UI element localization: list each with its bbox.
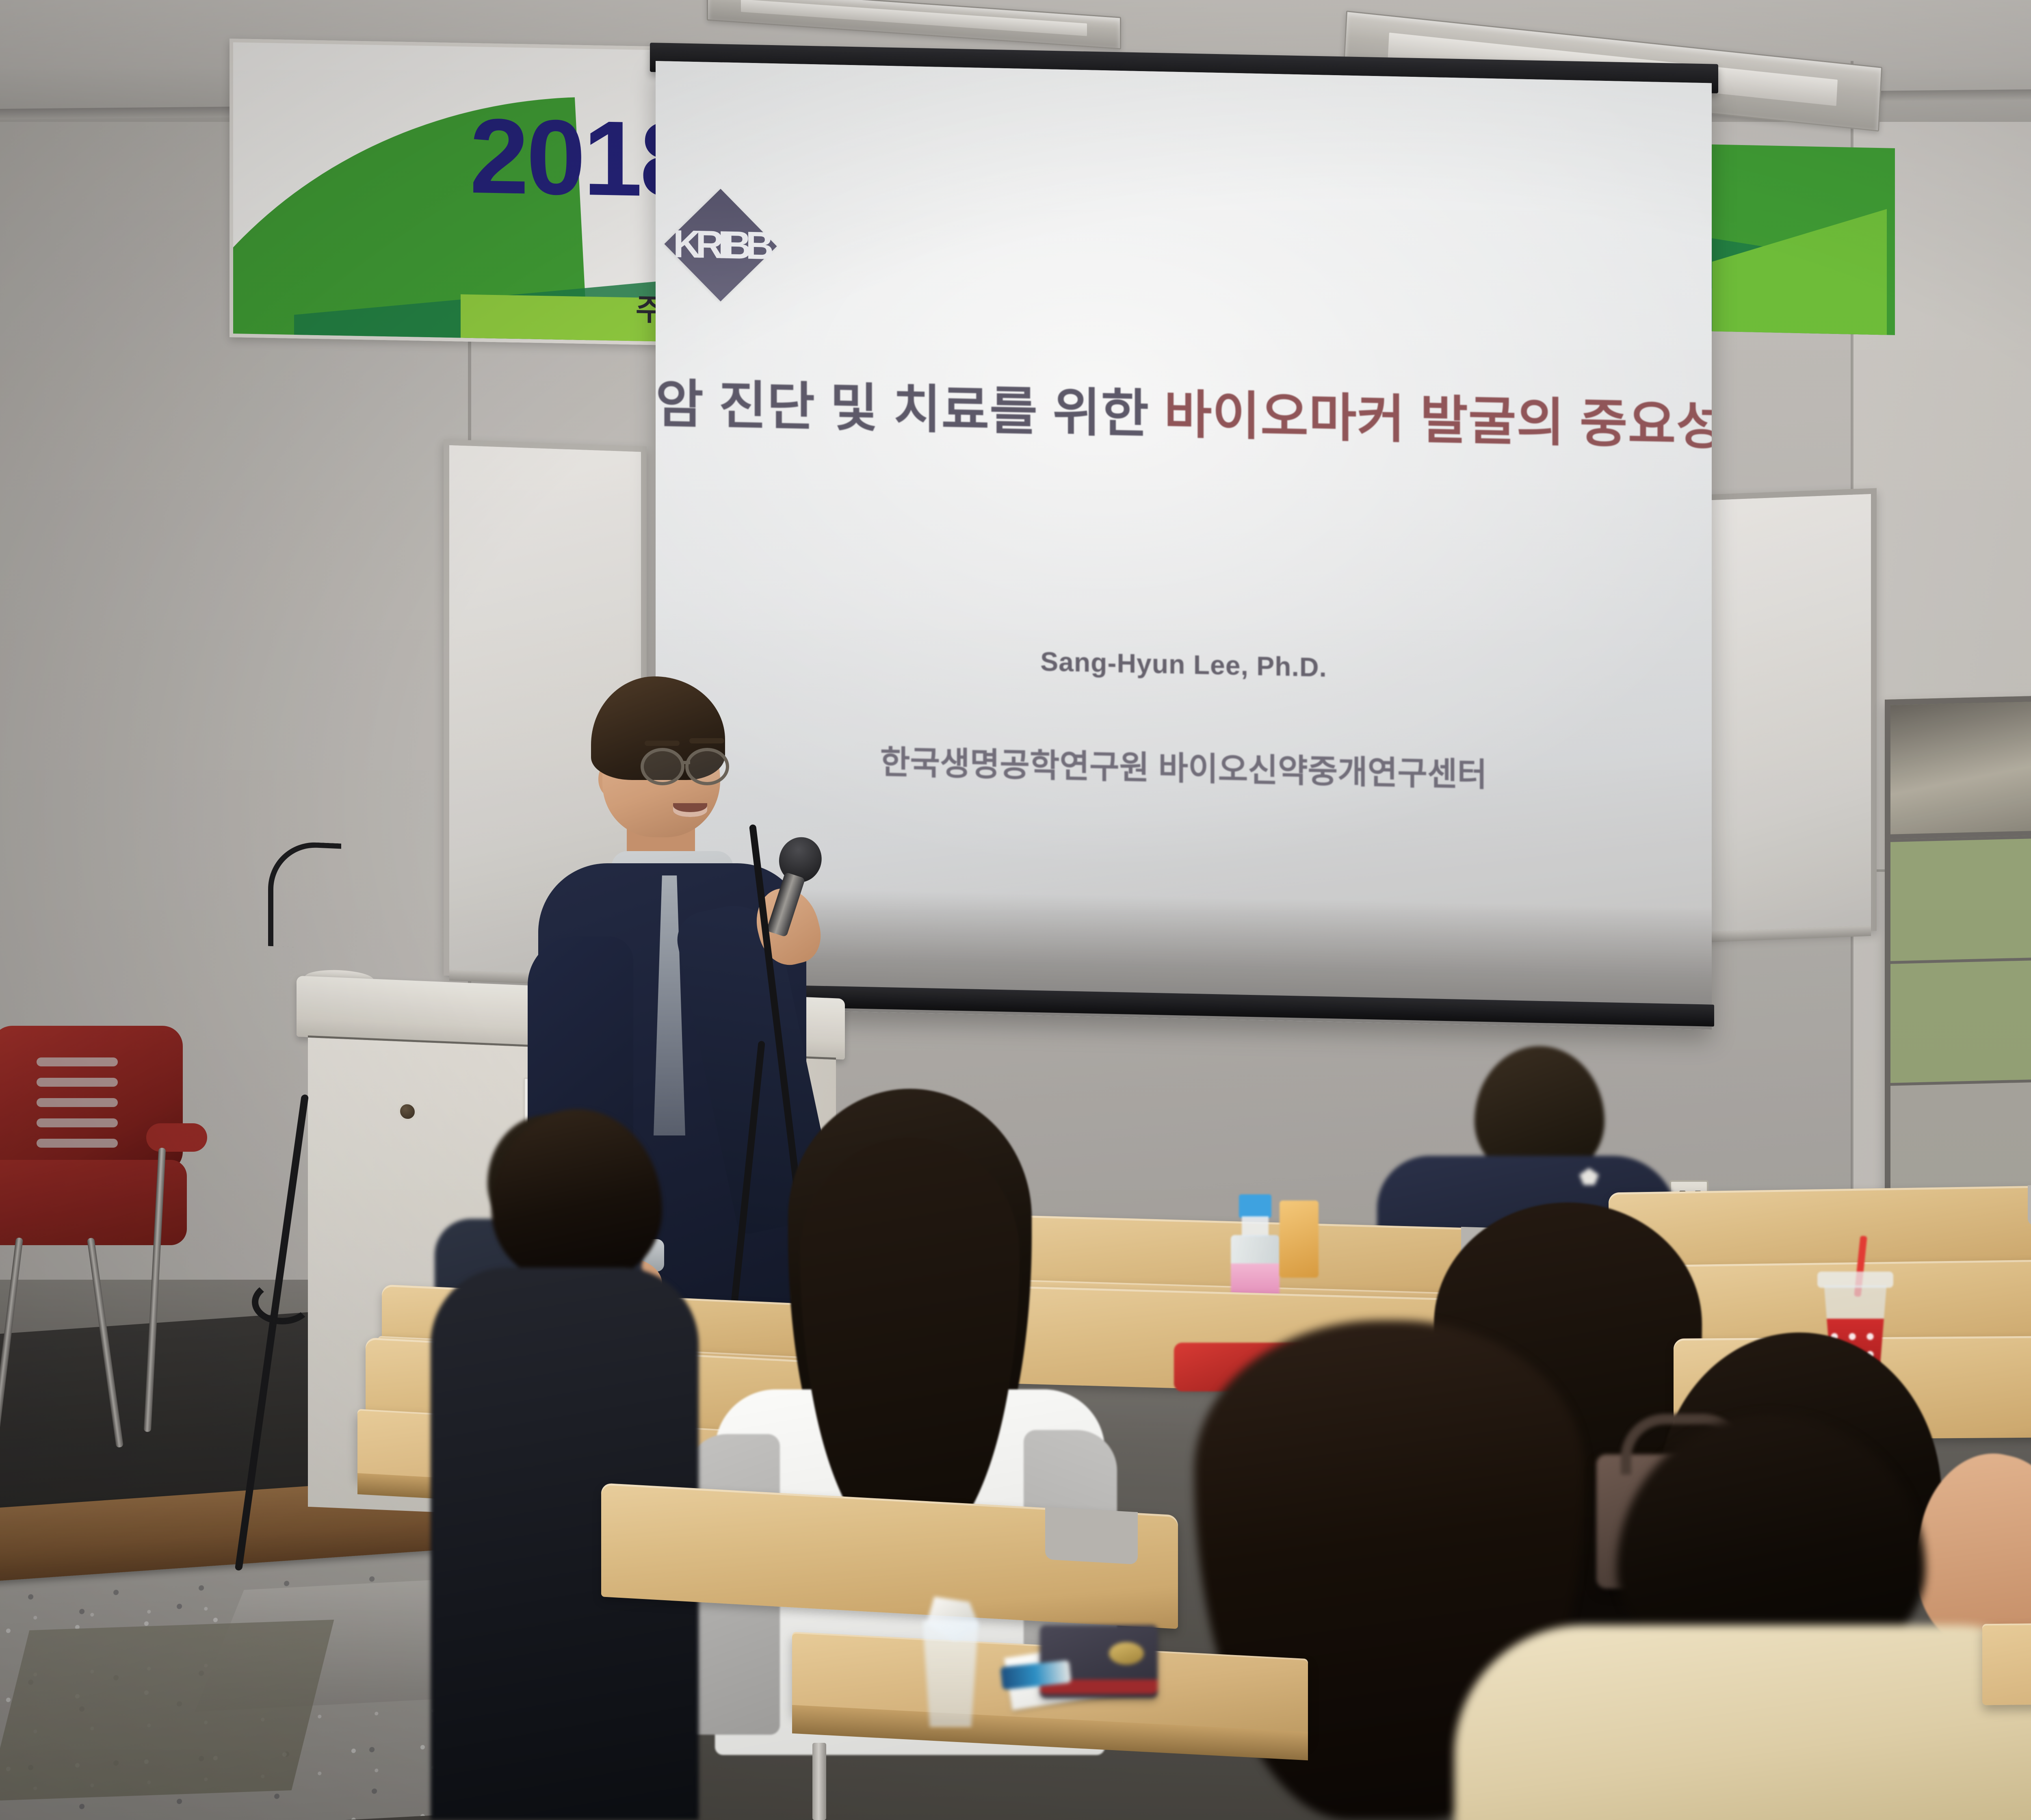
presenter-eyebrow — [689, 738, 724, 743]
chair-leg — [0, 1237, 23, 1432]
head — [492, 1109, 662, 1284]
partition-panel-segment — [1890, 956, 2031, 1083]
audience-member-foreground-left — [418, 1109, 703, 1820]
glasses-icon — [641, 748, 684, 785]
cable-loop — [252, 1280, 313, 1324]
desk-front-right — [1982, 1618, 2031, 1705]
cream-fleece-jacket — [1454, 1625, 2031, 1820]
clear-iced-cup[interactable] — [918, 1605, 983, 1727]
chair-vent-slot — [37, 1118, 118, 1127]
chair-armrest — [146, 1123, 207, 1152]
room-partition-panel — [1885, 690, 2031, 1207]
presenter-eyebrow — [645, 741, 680, 746]
presenter-mouth — [673, 803, 707, 817]
cup-body — [918, 1621, 983, 1727]
chair-vent-slot — [37, 1078, 118, 1087]
partition-glass-pane — [1890, 700, 2031, 839]
red-stacking-chair[interactable] — [0, 1026, 195, 1424]
chair-vent-slot — [37, 1057, 118, 1066]
whiteboard-right — [1694, 488, 1877, 938]
desk-leg — [812, 1743, 826, 1820]
chair-vent-slot — [37, 1098, 118, 1107]
event-banner-right-fragment — [1704, 144, 1895, 335]
lecture-hall-photo: 2018 주최 KRIBB 암 진단 및 치료를 위한 바이오마커 발굴의 중요… — [0, 0, 2031, 1820]
bottle-neck — [1242, 1216, 1269, 1237]
floor-mat — [0, 1620, 334, 1801]
slide-title-part-1: 암 진단 및 치료를 위한 — [656, 375, 1164, 444]
bottle-cap — [1239, 1194, 1271, 1218]
partition-panel-segment — [1890, 834, 2031, 961]
wallet-gold-clasp-icon — [1109, 1642, 1144, 1665]
glasses-icon — [685, 748, 729, 785]
event-banner: 2018 주최 — [230, 39, 711, 346]
audience-member-cream-fleece — [1414, 1414, 2031, 1820]
microphone-stem — [766, 872, 805, 937]
slide-title-part-2: 바이오마커 발굴의 중요성 — [1164, 386, 1712, 455]
chair-vent-slot — [37, 1139, 118, 1148]
glasses-bridge — [683, 761, 690, 764]
kribb-logo-text: KRIBB — [673, 222, 768, 269]
chair-leg — [87, 1237, 123, 1447]
juice-carton[interactable] — [1280, 1200, 1319, 1278]
